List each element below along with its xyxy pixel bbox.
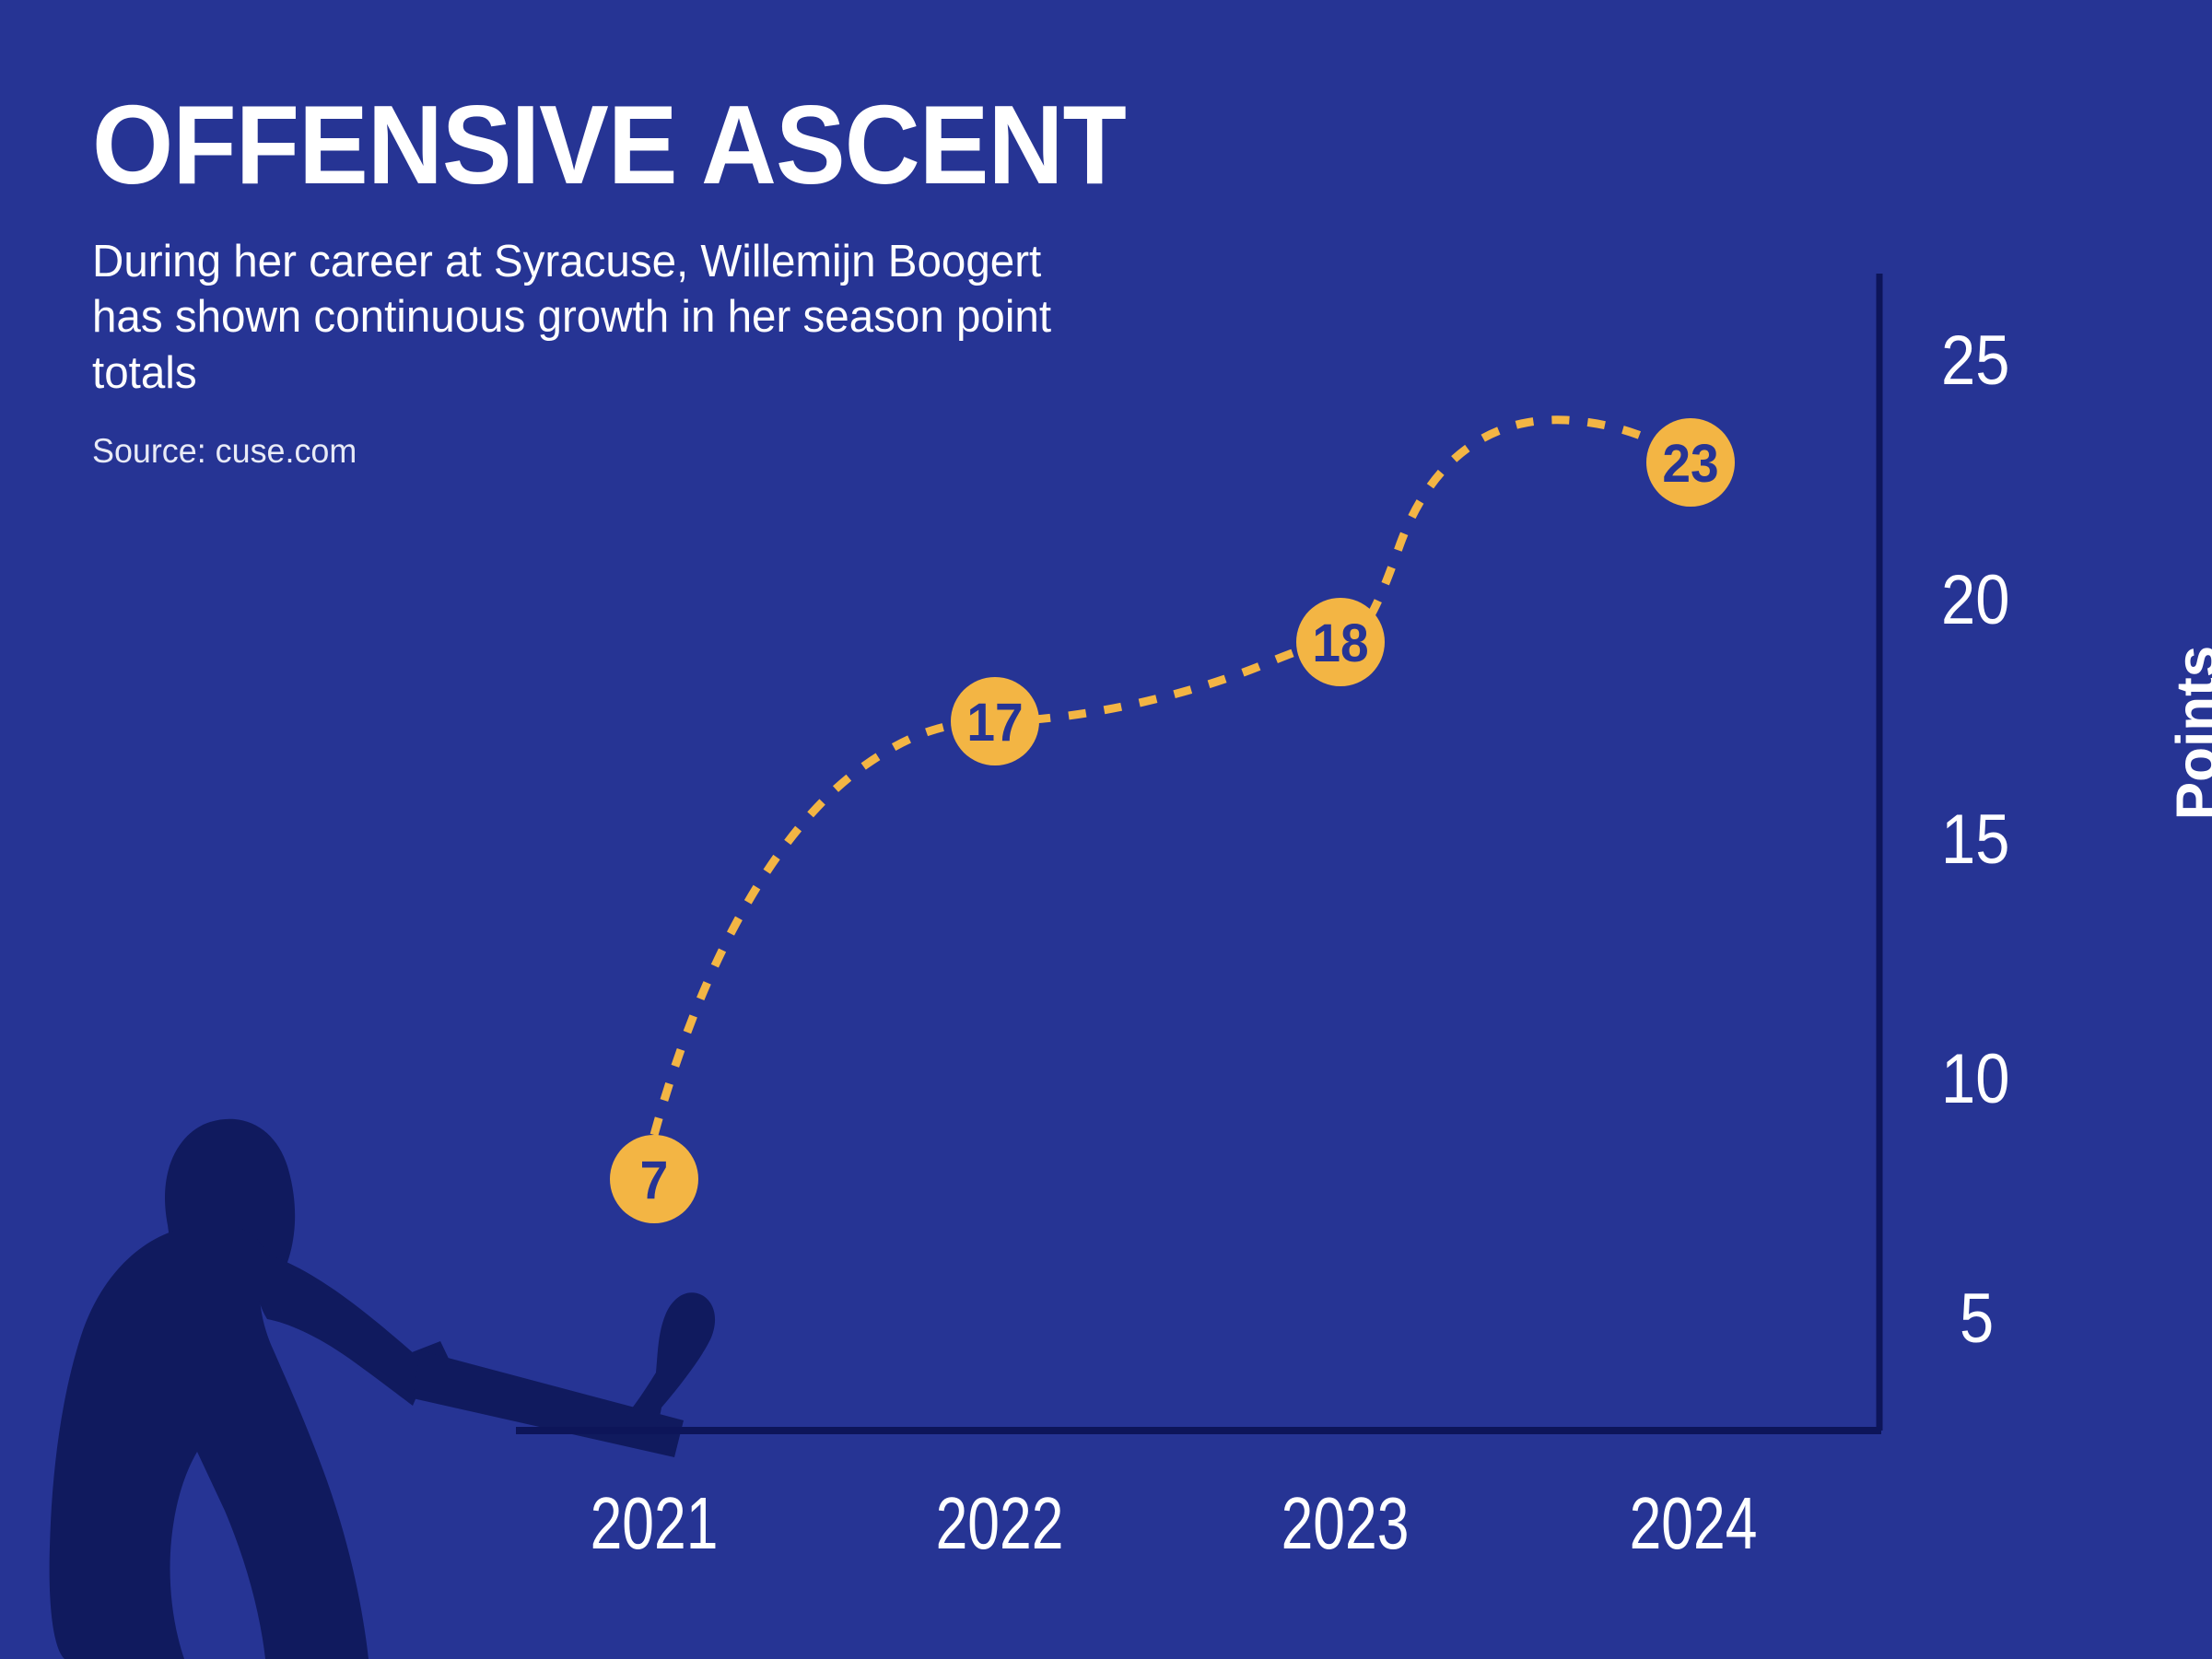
y-axis-tick-5: 5 <box>1960 1279 1994 1359</box>
y-axis-tick-10: 10 <box>1941 1039 2009 1119</box>
data-point-marker-2024 <box>1646 418 1735 507</box>
y-axis-title: Points <box>2165 613 2212 853</box>
y-axis-tick-15: 15 <box>1941 800 2009 880</box>
x-axis-tick-2021: 2021 <box>575 1481 733 1566</box>
infographic-canvas: OFFENSIVE ASCENT During her career at Sy… <box>0 0 2212 1659</box>
x-axis-tick-2022: 2022 <box>920 1481 1079 1566</box>
trend-line-dashed <box>654 420 1691 1135</box>
data-point-marker-2021 <box>610 1135 698 1223</box>
x-axis-tick-2023: 2023 <box>1266 1481 1424 1566</box>
data-point-marker-2022 <box>951 677 1039 765</box>
y-axis-tick-25: 25 <box>1941 321 2009 401</box>
x-axis-tick-2024: 2024 <box>1614 1481 1773 1566</box>
y-axis-tick-20: 20 <box>1941 560 2009 640</box>
data-point-marker-2023 <box>1296 598 1385 686</box>
chart-plot-area: 7 17 18 23 25 20 15 10 5 Points 2021 202… <box>0 0 2212 1659</box>
